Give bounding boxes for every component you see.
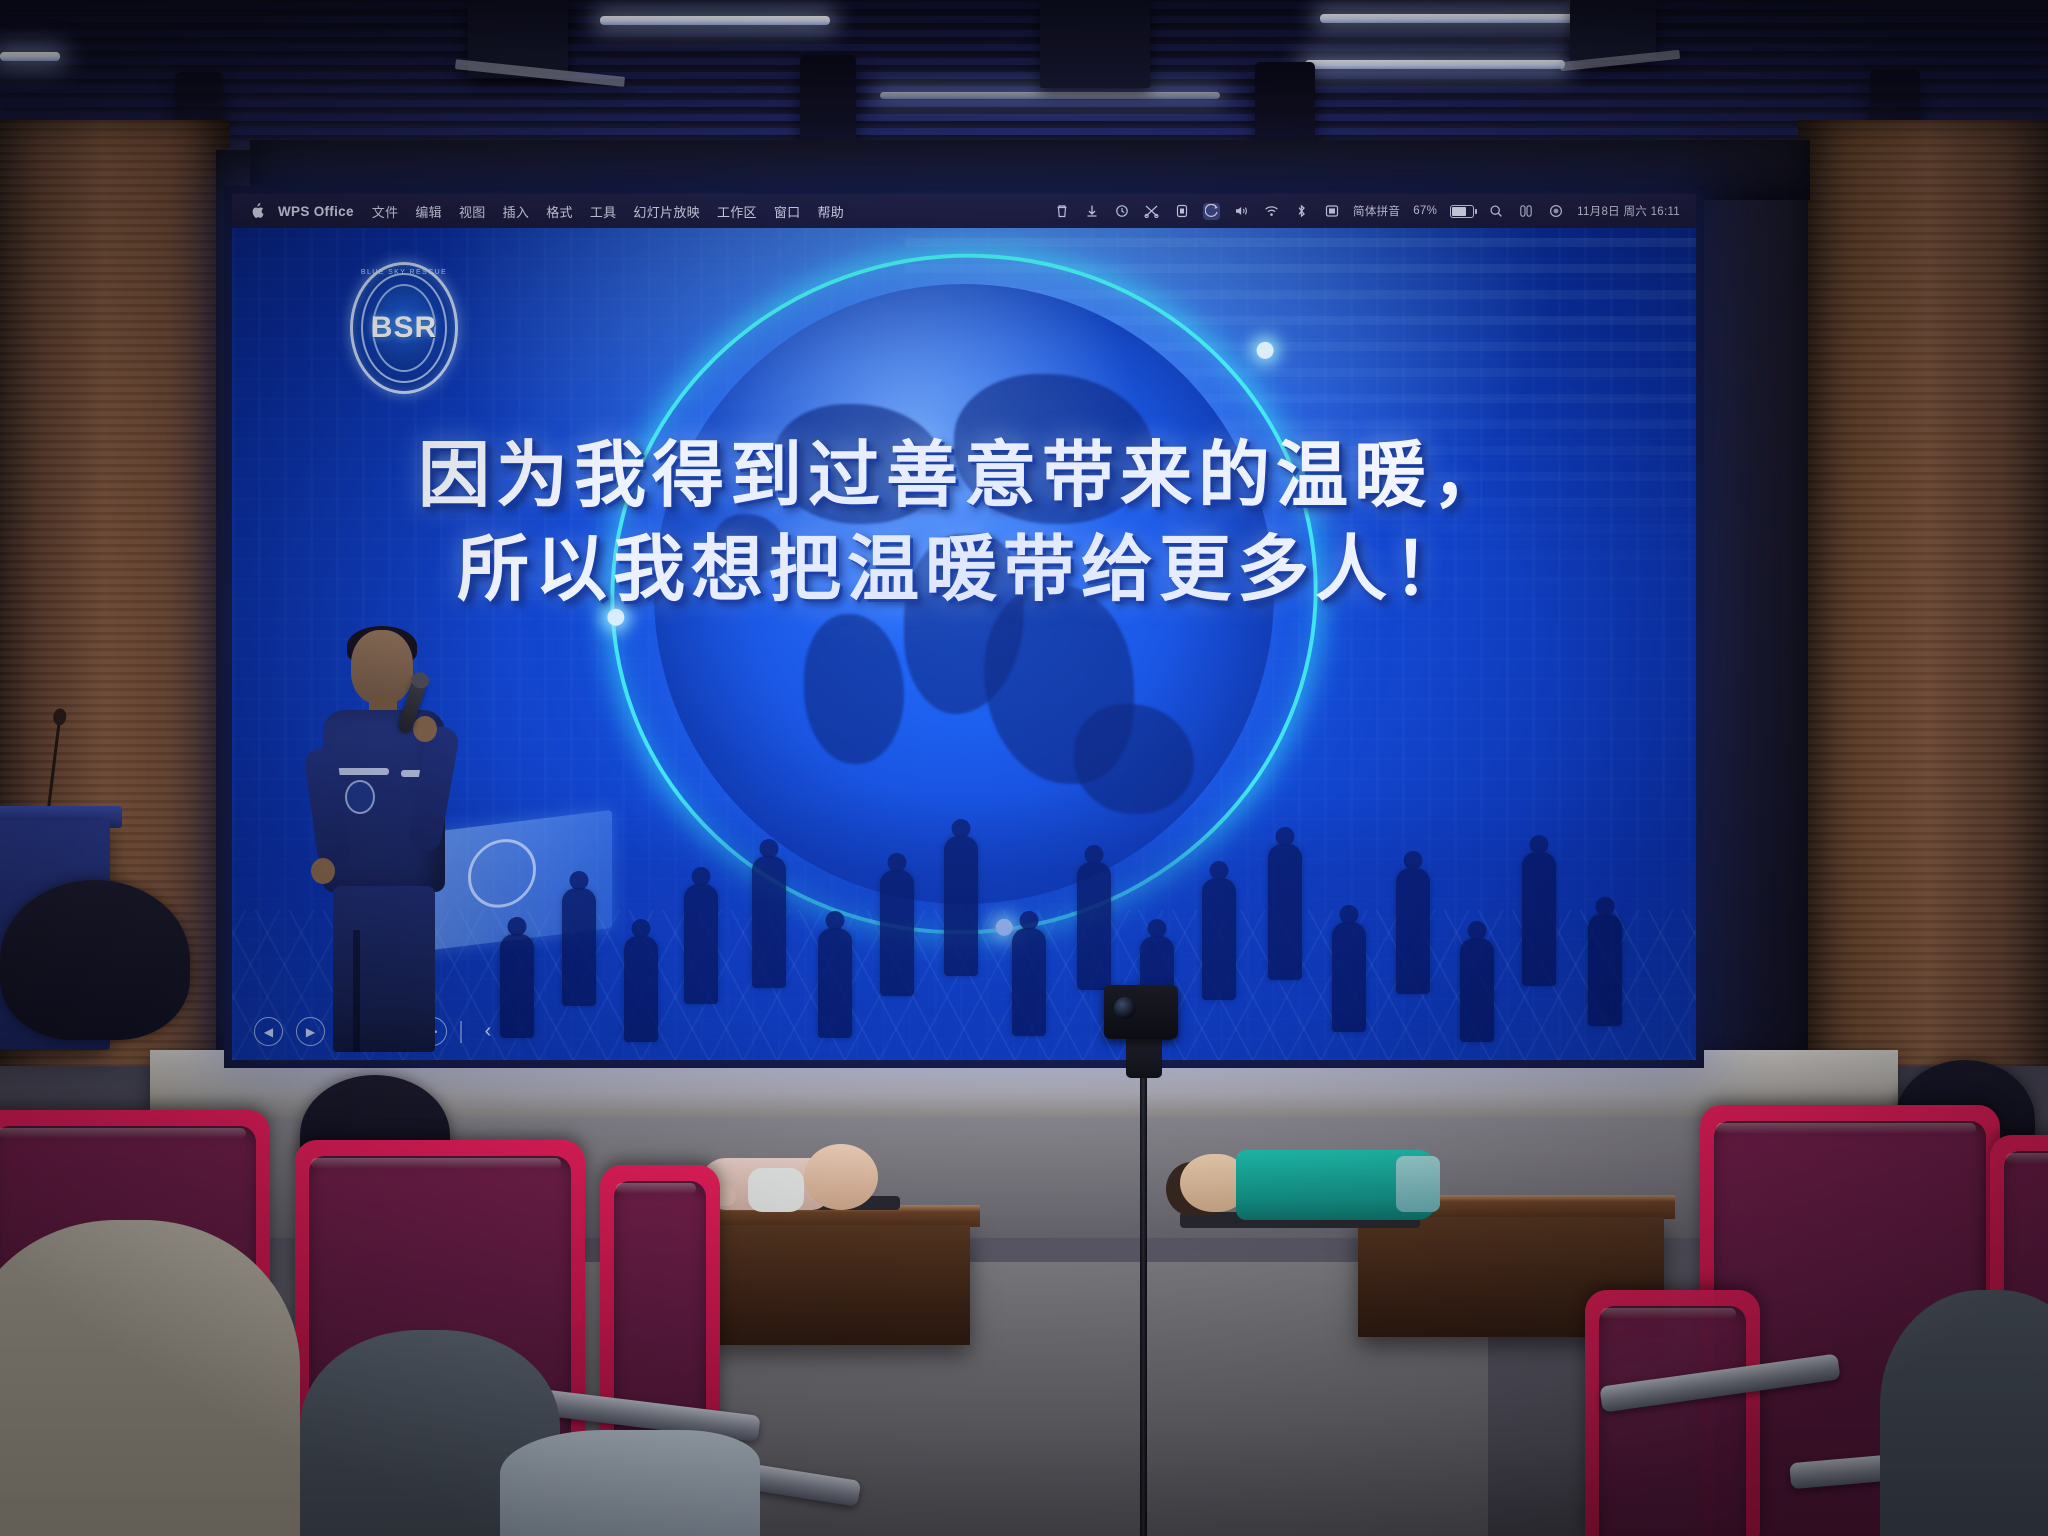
control-center-icon[interactable] — [1517, 203, 1534, 220]
sync-circle-icon[interactable] — [1113, 203, 1130, 220]
dark-acoustic-panel-right — [1690, 150, 1808, 1110]
battery-icon[interactable] — [1450, 205, 1474, 218]
team-member — [624, 936, 658, 1042]
team-member — [1588, 914, 1622, 1026]
menubar-status-area: 简体拼音 67% 11月 — [1053, 203, 1686, 220]
scissors-icon[interactable] — [1143, 203, 1160, 220]
ceiling-light-tube — [0, 52, 60, 61]
team-member — [1522, 852, 1556, 986]
ceiling-light-tube — [600, 16, 830, 25]
trash-icon[interactable] — [1053, 203, 1070, 220]
presenter-hand-right — [413, 716, 437, 742]
menu-item-slideshow[interactable]: 幻灯片放映 — [633, 202, 700, 221]
ceiling-light-tube — [880, 92, 1220, 99]
team-member — [562, 888, 596, 1006]
battery-percent-label[interactable]: 67% — [1413, 205, 1437, 217]
demo-table-left — [712, 1225, 970, 1345]
tripod-pole — [1140, 1075, 1147, 1536]
battery-app-icon[interactable] — [1173, 203, 1190, 220]
audience-shoulder — [0, 1220, 300, 1536]
presenter-hand-left — [311, 858, 335, 884]
team-member — [1332, 922, 1366, 1032]
wood-wall-right — [1798, 120, 2048, 1100]
search-icon[interactable] — [1487, 203, 1504, 220]
team-member — [1012, 928, 1046, 1036]
menu-item-view[interactable]: 视图 — [459, 202, 486, 221]
team-member — [1202, 878, 1236, 1000]
camera-on-tripod — [1104, 985, 1178, 1039]
camera-lens-icon — [1114, 997, 1136, 1019]
auditorium-seat[interactable] — [1585, 1290, 1760, 1536]
ceiling-light-tube — [1305, 60, 1565, 69]
tripod-head — [1126, 1036, 1162, 1078]
collapse-toolbar-button[interactable]: ‹ — [475, 1018, 502, 1045]
menu-item-format[interactable]: 格式 — [546, 202, 573, 221]
slide-headline-line-2: 所以我想把温暖带给更多人！ — [232, 522, 1696, 616]
menu-item-help[interactable]: 帮助 — [817, 202, 844, 221]
team-member — [818, 928, 852, 1038]
menubar-app-name[interactable]: WPS Office — [278, 204, 354, 219]
menu-item-workspace[interactable]: 工作区 — [717, 202, 757, 221]
slide-headline-line-1: 因为我得到过善意带来的温暖， — [232, 428, 1696, 522]
screenshot-root: WPS Office 文件 编辑 视图 插入 格式 工具 幻灯片放映 工作区 窗… — [0, 0, 2048, 1536]
team-member — [752, 856, 786, 988]
siri-icon[interactable] — [1547, 203, 1564, 220]
infant-cpr-manikin — [700, 1140, 880, 1214]
bsr-logo-text: BSR — [350, 311, 458, 345]
presenter-speaker — [305, 630, 475, 1050]
menu-item-insert[interactable]: 插入 — [503, 202, 530, 221]
team-member — [1460, 938, 1494, 1042]
dark-backdrop — [250, 140, 1810, 200]
screen-mirroring-icon[interactable] — [1203, 203, 1220, 220]
team-member — [500, 934, 534, 1038]
team-member — [944, 836, 978, 976]
apple-logo-icon[interactable] — [248, 201, 266, 221]
team-member — [1268, 844, 1302, 980]
slide-headline: 因为我得到过善意带来的温暖， 所以我想把温暖带给更多人！ — [232, 428, 1696, 615]
menubar-datetime[interactable]: 11月8日 周六 16:11 — [1577, 203, 1680, 219]
uniform-badge — [345, 780, 375, 814]
menu-item-window[interactable]: 窗口 — [774, 202, 801, 221]
input-source-icon[interactable] — [1323, 203, 1340, 220]
presenter-uniform-pants — [333, 886, 435, 1052]
adult-cpr-manikin — [1180, 1150, 1440, 1226]
download-arrow-icon[interactable] — [1083, 203, 1100, 220]
menu-item-edit[interactable]: 编辑 — [415, 202, 442, 221]
ceiling-light-tube — [1320, 14, 1600, 23]
team-member — [1077, 862, 1111, 990]
menu-item-tools[interactable]: 工具 — [590, 202, 617, 221]
menu-item-file[interactable]: 文件 — [372, 202, 399, 221]
team-member — [1396, 868, 1430, 994]
audience-shoulder — [1880, 1290, 2048, 1536]
flag-seal-icon — [468, 835, 536, 911]
ceiling-projector-mount — [1040, 0, 1150, 88]
previous-slide-button[interactable]: ◀ — [254, 1017, 283, 1046]
audience-head — [0, 880, 190, 1040]
team-member — [684, 884, 718, 1004]
team-member — [880, 870, 914, 996]
volume-icon[interactable] — [1233, 203, 1250, 220]
macos-menu-bar: WPS Office 文件 编辑 视图 插入 格式 工具 幻灯片放映 工作区 窗… — [232, 194, 1696, 228]
input-source-label[interactable]: 简体拼音 — [1353, 203, 1400, 219]
bsr-logo: BLUE SKY RESCUE BSR — [350, 262, 458, 394]
presenter-head — [351, 630, 413, 704]
auditorium-room: WPS Office 文件 编辑 视图 插入 格式 工具 幻灯片放映 工作区 窗… — [0, 0, 2048, 1536]
bluetooth-icon[interactable] — [1293, 203, 1310, 220]
bsr-logo-arc-text: BLUE SKY RESCUE — [350, 269, 458, 276]
ceiling-projector-mount — [1570, 0, 1656, 60]
wifi-icon[interactable] — [1263, 203, 1280, 220]
audience-shoulder — [500, 1430, 760, 1536]
